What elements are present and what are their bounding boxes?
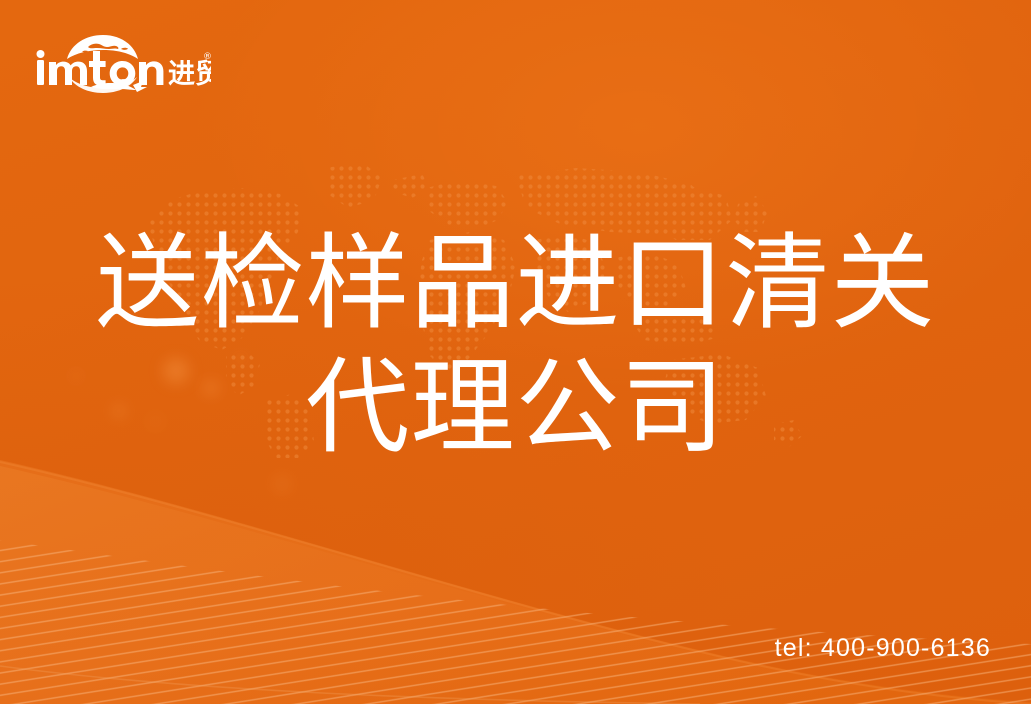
page-title: 送检样品进口清关 代理公司 [0, 222, 1031, 470]
brand-logo: 进贸通 ® [33, 29, 211, 99]
logo-wordmark-latin [37, 50, 164, 86]
headline-line-1: 送检样品进口清关 [0, 222, 1031, 346]
stripe-ribbon [0, 504, 1031, 704]
trademark-symbol: ® [203, 52, 211, 62]
marketing-banner: 进贸通 ® 送检样品进口清关 代理公司 tel: 400-900-6136 [0, 0, 1031, 704]
contact-telephone: tel: 400-900-6136 [775, 634, 991, 663]
logo-wordmark-chinese: 进贸通 [168, 59, 211, 90]
headline-line-2: 代理公司 [0, 346, 1031, 470]
